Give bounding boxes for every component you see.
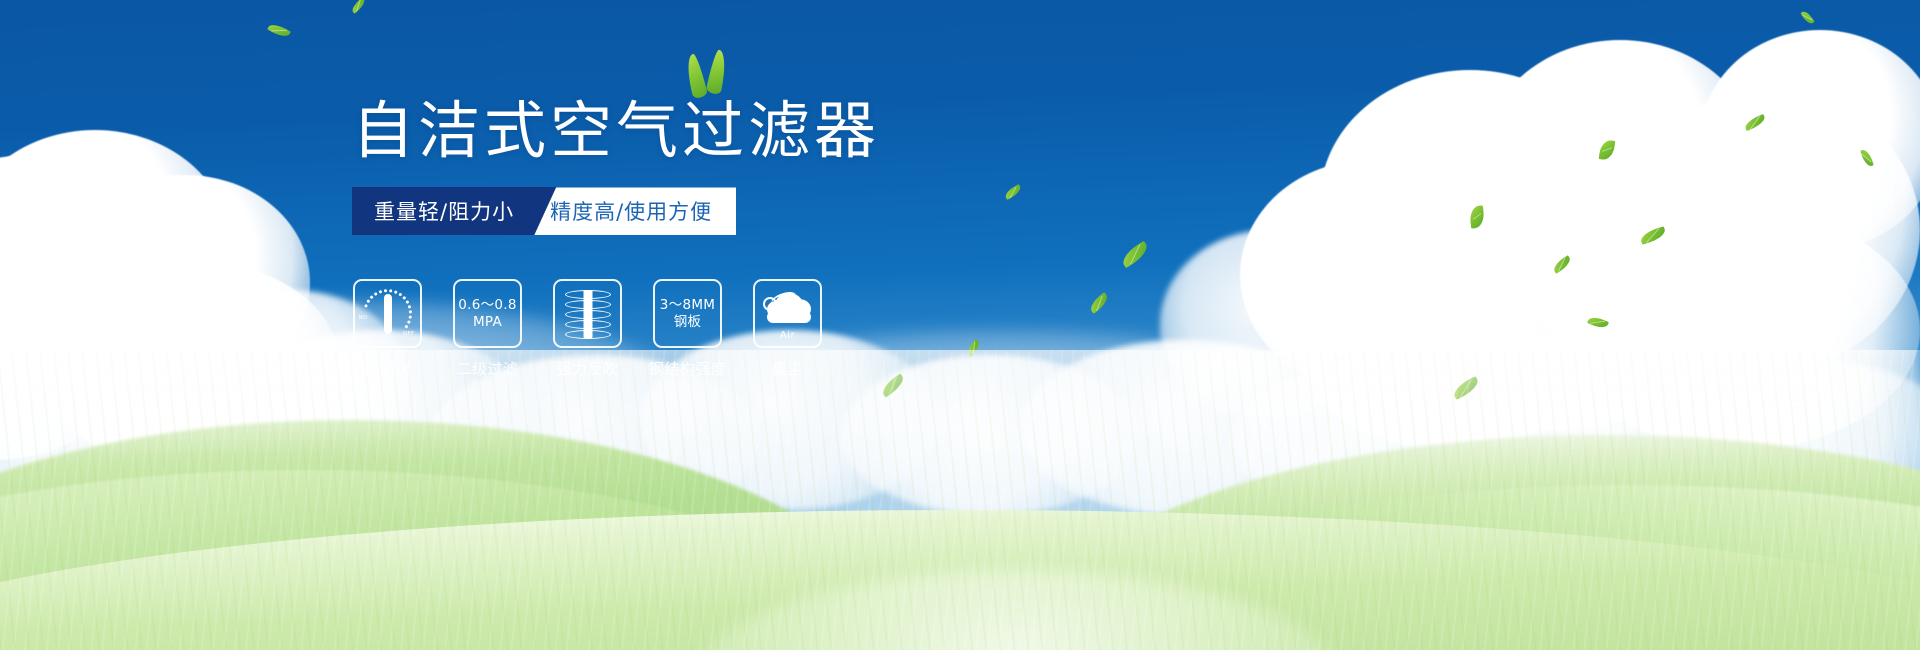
- pressure-text-icon: 0.6～0.8 MPA: [458, 297, 517, 332]
- pressure-range-value: 0.6～0.8: [458, 297, 517, 314]
- air-cloud-icon: Air: [761, 289, 815, 339]
- pressure-unit-value: MPA: [458, 314, 517, 331]
- feature-item-steel[interactable]: 3～8MM 钢板 钢结构强度: [652, 279, 723, 379]
- feature-icon-box: [553, 279, 622, 348]
- coil-spring-icon: [565, 288, 611, 340]
- product-hero-banner: 自洁式空气过滤器 重量轻/阻力小 精度高/使用方便: [0, 0, 1920, 650]
- tagline-badge-primary: 重量轻/阻力小: [352, 187, 556, 235]
- gauge-needle: [384, 294, 392, 334]
- gauge-label-no: NO: [359, 315, 368, 321]
- feature-icon-box: Air: [753, 279, 822, 348]
- banner-content: 自洁式空气过滤器 重量轻/阻力小 精度高/使用方便: [352, 96, 1072, 379]
- feature-item-filtration[interactable]: 0.6～0.8 MPA 二级过滤: [452, 279, 523, 379]
- feature-icon-row: NO OFF 控制仪 0.6～0.8 MPA 二级过滤: [352, 279, 1072, 379]
- steel-plate-text-icon: 3～8MM 钢板: [660, 297, 715, 332]
- steel-thickness-value: 3～8MM: [660, 297, 715, 314]
- feature-caption: 钢结构强度: [649, 358, 727, 379]
- air-label: Air: [761, 330, 815, 341]
- grass-field: [0, 350, 1920, 650]
- feature-caption: 强力反吹: [556, 358, 618, 379]
- air-ring-shape: [763, 297, 777, 311]
- feature-caption: 控制仪: [364, 358, 411, 379]
- cloud-base-shape: [767, 311, 811, 323]
- feature-caption: 二级过滤: [456, 358, 518, 379]
- gauge-icon: NO OFF: [359, 285, 417, 343]
- tagline-badge-secondary: 精度高/使用方便: [534, 187, 736, 235]
- feature-item-control[interactable]: NO OFF 控制仪: [352, 279, 423, 379]
- title-block: 自洁式空气过滤器: [352, 96, 880, 165]
- feature-caption: 集尘: [772, 358, 803, 379]
- feature-icon-box: 0.6～0.8 MPA: [453, 279, 522, 348]
- tagline-badge-bar: 重量轻/阻力小 精度高/使用方便: [352, 187, 736, 235]
- steel-material-value: 钢板: [660, 314, 715, 331]
- feature-item-dust[interactable]: Air 集尘: [752, 279, 823, 379]
- page-title: 自洁式空气过滤器: [352, 96, 880, 165]
- feature-icon-box: 3～8MM 钢板: [653, 279, 722, 348]
- feature-item-blowback[interactable]: 强力反吹: [552, 279, 623, 379]
- feature-icon-box: NO OFF: [353, 279, 422, 348]
- gauge-label-off: OFF: [403, 331, 415, 337]
